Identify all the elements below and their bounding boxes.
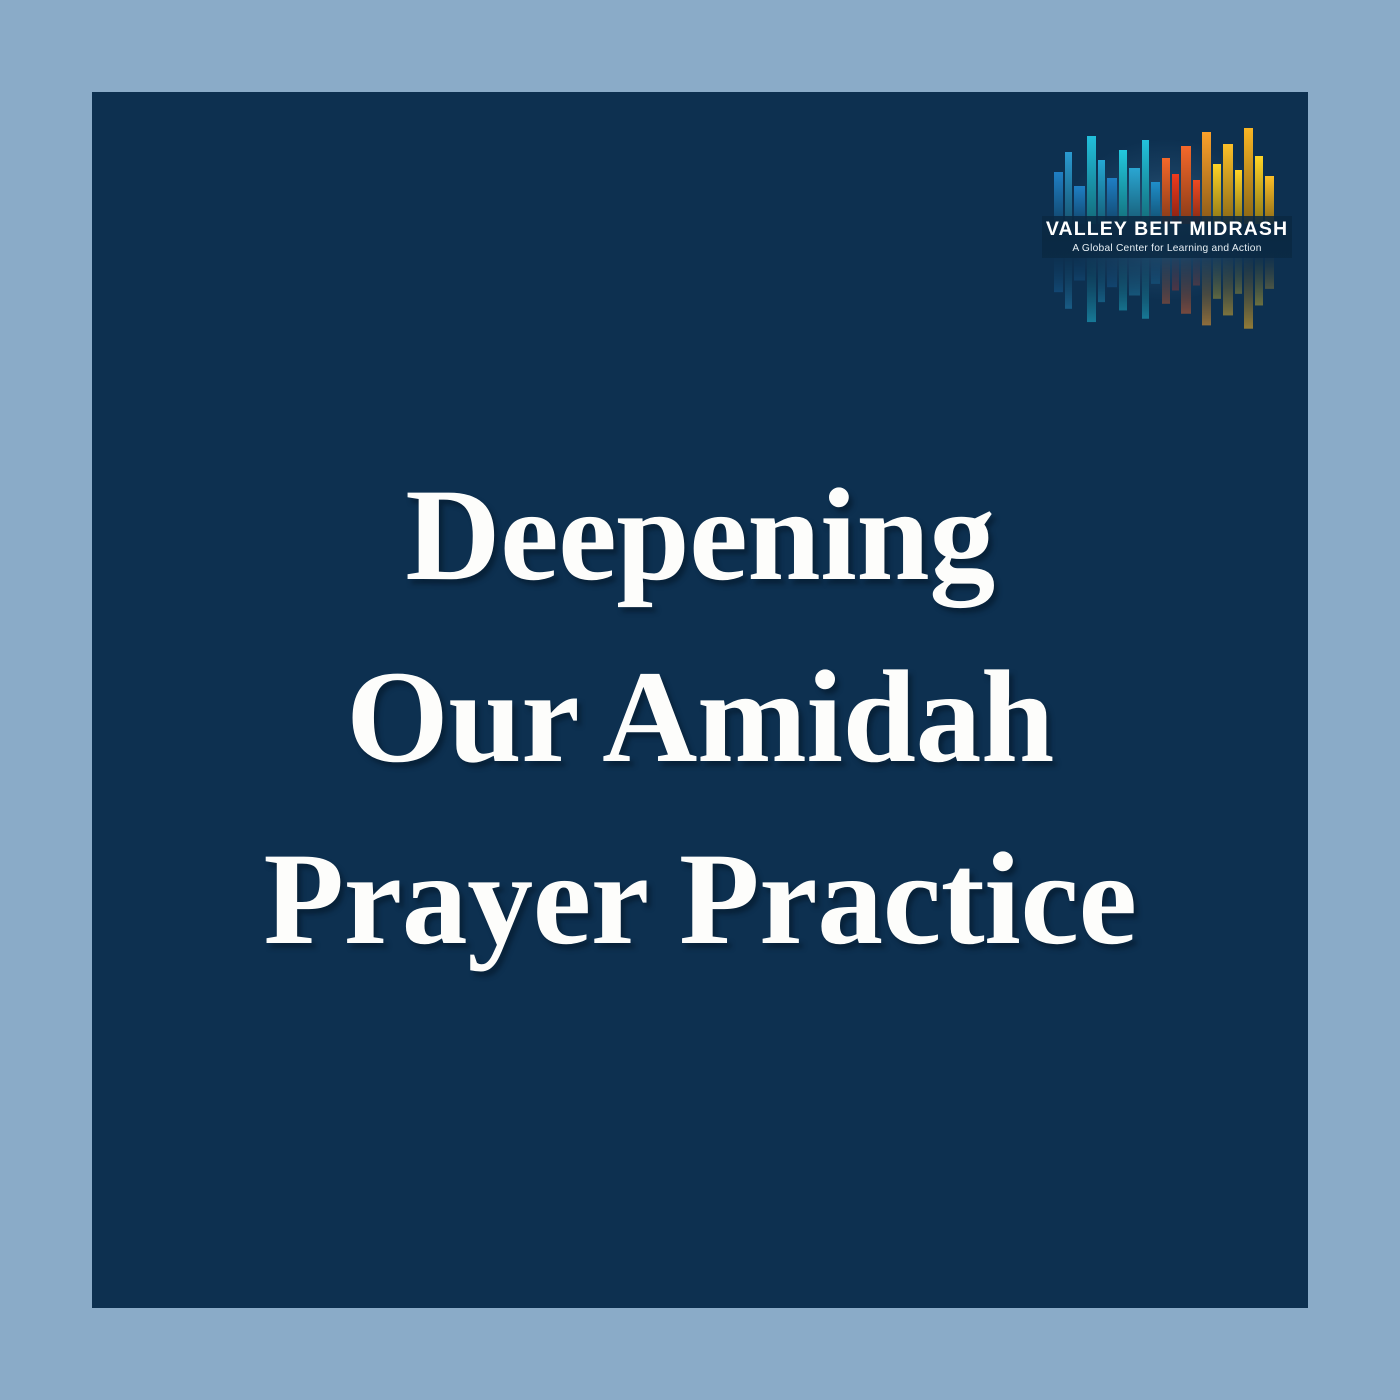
valley-beit-midrash-logo: VALLEY BEIT MIDRASH A Global Center for …: [1042, 112, 1292, 328]
title-line-1: Deepening: [92, 444, 1308, 626]
poster-title: Deepening Our Amidah Prayer Practice: [92, 444, 1308, 990]
title-line-3: Prayer Practice: [92, 808, 1308, 990]
logo-organization-name: VALLEY BEIT MIDRASH: [1046, 220, 1288, 240]
logo-tagline: A Global Center for Learning and Action: [1072, 244, 1261, 254]
poster-panel: VALLEY BEIT MIDRASH A Global Center for …: [92, 92, 1308, 1308]
logo-text-band: VALLEY BEIT MIDRASH A Global Center for …: [1042, 216, 1292, 258]
title-line-2: Our Amidah: [92, 626, 1308, 808]
city-skyline-bars-icon: [1054, 118, 1280, 224]
event-poster: VALLEY BEIT MIDRASH A Global Center for …: [0, 0, 1400, 1400]
city-skyline-reflection-icon: [1054, 249, 1280, 337]
